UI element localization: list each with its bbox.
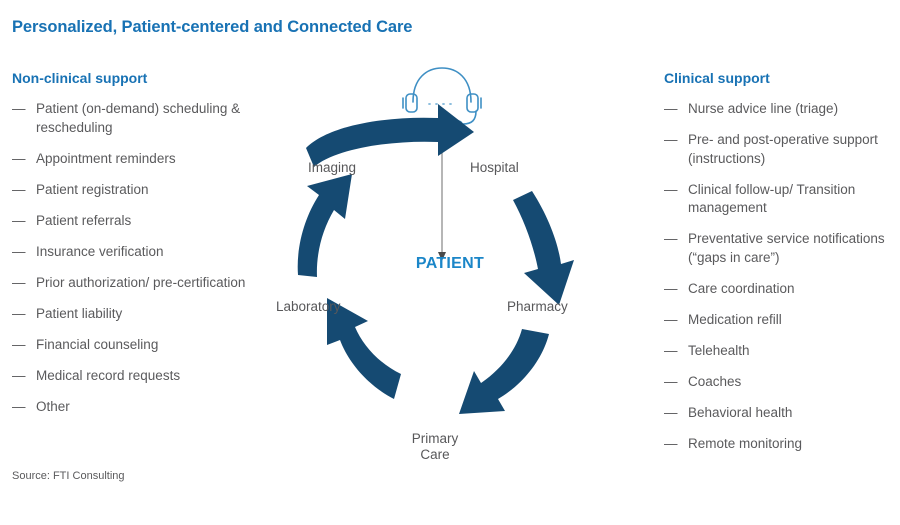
list-item: —Patient registration	[12, 181, 262, 200]
node-label-imaging: Imaging	[308, 160, 356, 175]
arrow-laboratory-to-imaging	[298, 174, 352, 277]
list-item-label: Medical record requests	[36, 368, 180, 383]
list-item: —Medication refill	[664, 311, 900, 330]
dash-bullet-icon: —	[664, 280, 678, 299]
list-item-label: Remote monitoring	[688, 436, 802, 451]
list-item: —Medical record requests	[12, 367, 262, 386]
dash-bullet-icon: —	[664, 311, 678, 330]
dash-bullet-icon: —	[12, 336, 26, 355]
patient-journey-cycle-diagram: Imaging Hospital Pharmacy Laboratory Pri…	[270, 58, 630, 428]
clinical-support-column: Clinical support —Nurse advice line (tri…	[664, 70, 900, 466]
dash-bullet-icon: —	[12, 243, 26, 262]
list-item: —Patient (on-demand) scheduling & resche…	[12, 100, 262, 137]
list-item: —Telehealth	[664, 342, 900, 361]
dash-bullet-icon: —	[12, 398, 26, 417]
dash-bullet-icon: —	[664, 404, 678, 423]
cycle-diagram-svg	[270, 58, 630, 428]
list-item: —Financial counseling	[12, 336, 262, 355]
node-label-primary-care: Primary Care	[400, 431, 470, 463]
list-item-label: Coaches	[688, 374, 741, 389]
node-label-laboratory: Laboratory	[276, 299, 341, 314]
list-item: —Patient referrals	[12, 212, 262, 231]
node-label-hospital: Hospital	[470, 160, 519, 175]
list-item: —Pre- and post-operative support (instru…	[664, 131, 900, 168]
list-item-label: Behavioral health	[688, 405, 792, 420]
dash-bullet-icon: —	[664, 435, 678, 454]
dash-bullet-icon: —	[12, 212, 26, 231]
list-item: —Care coordination	[664, 280, 900, 299]
dash-bullet-icon: —	[664, 100, 678, 119]
dash-bullet-icon: —	[12, 367, 26, 386]
node-label-pharmacy: Pharmacy	[507, 299, 568, 314]
list-item: —Other	[12, 398, 262, 417]
list-item-label: Insurance verification	[36, 244, 164, 259]
list-item-label: Other	[36, 399, 70, 414]
list-item-label: Clinical follow-up/ Transition managemen…	[688, 182, 855, 216]
dash-bullet-icon: —	[12, 305, 26, 324]
arrow-hospital-to-pharmacy	[513, 191, 574, 305]
list-item-label: Patient liability	[36, 306, 122, 321]
list-item: —Patient liability	[12, 305, 262, 324]
source-note: Source: FTI Consulting	[12, 470, 125, 482]
dash-bullet-icon: —	[12, 181, 26, 200]
list-item: —Prior authorization/ pre-certification	[12, 274, 262, 293]
list-item-label: Patient registration	[36, 182, 149, 197]
clinical-support-list: —Nurse advice line (triage) —Pre- and po…	[664, 100, 900, 453]
list-item: —Insurance verification	[12, 243, 262, 262]
list-item-label: Nurse advice line (triage)	[688, 101, 838, 116]
list-item-label: Prior authorization/ pre-certification	[36, 275, 245, 290]
non-clinical-support-column: Non-clinical support —Patient (on-demand…	[12, 70, 262, 429]
dash-bullet-icon: —	[12, 100, 26, 119]
non-clinical-support-heading: Non-clinical support	[12, 70, 262, 86]
arrow-imaging-to-hospital	[306, 104, 474, 167]
dash-bullet-icon: —	[664, 373, 678, 392]
node-label-primary-care-line1: Primary	[400, 431, 470, 447]
list-item-label: Medication refill	[688, 312, 782, 327]
list-item: —Preventative service notifications (“ga…	[664, 230, 900, 267]
dash-bullet-icon: —	[664, 181, 678, 200]
node-label-primary-care-line2: Care	[400, 447, 470, 463]
list-item: —Nurse advice line (triage)	[664, 100, 900, 119]
dash-bullet-icon: —	[664, 131, 678, 150]
list-item-label: Care coordination	[688, 281, 795, 296]
list-item: —Clinical follow-up/ Transition manageme…	[664, 181, 900, 218]
list-item: —Coaches	[664, 373, 900, 392]
dash-bullet-icon: —	[12, 150, 26, 169]
clinical-support-heading: Clinical support	[664, 70, 900, 86]
list-item-label: Telehealth	[688, 343, 750, 358]
list-item-label: Pre- and post-operative support (instruc…	[688, 132, 878, 166]
list-item-label: Preventative service notifications (“gap…	[688, 231, 885, 265]
page-title: Personalized, Patient-centered and Conne…	[12, 18, 412, 37]
list-item: —Appointment reminders	[12, 150, 262, 169]
dash-bullet-icon: —	[664, 342, 678, 361]
list-item: —Remote monitoring	[664, 435, 900, 454]
dash-bullet-icon: —	[12, 274, 26, 293]
dash-bullet-icon: —	[664, 230, 678, 249]
list-item-label: Patient referrals	[36, 213, 131, 228]
list-item-label: Financial counseling	[36, 337, 158, 352]
list-item-label: Patient (on-demand) scheduling & resched…	[36, 101, 240, 135]
patient-center-label: PATIENT	[390, 255, 510, 273]
list-item-label: Appointment reminders	[36, 151, 176, 166]
non-clinical-support-list: —Patient (on-demand) scheduling & resche…	[12, 100, 262, 416]
arrow-pharmacy-to-primary-care	[459, 329, 549, 414]
list-item: —Behavioral health	[664, 404, 900, 423]
